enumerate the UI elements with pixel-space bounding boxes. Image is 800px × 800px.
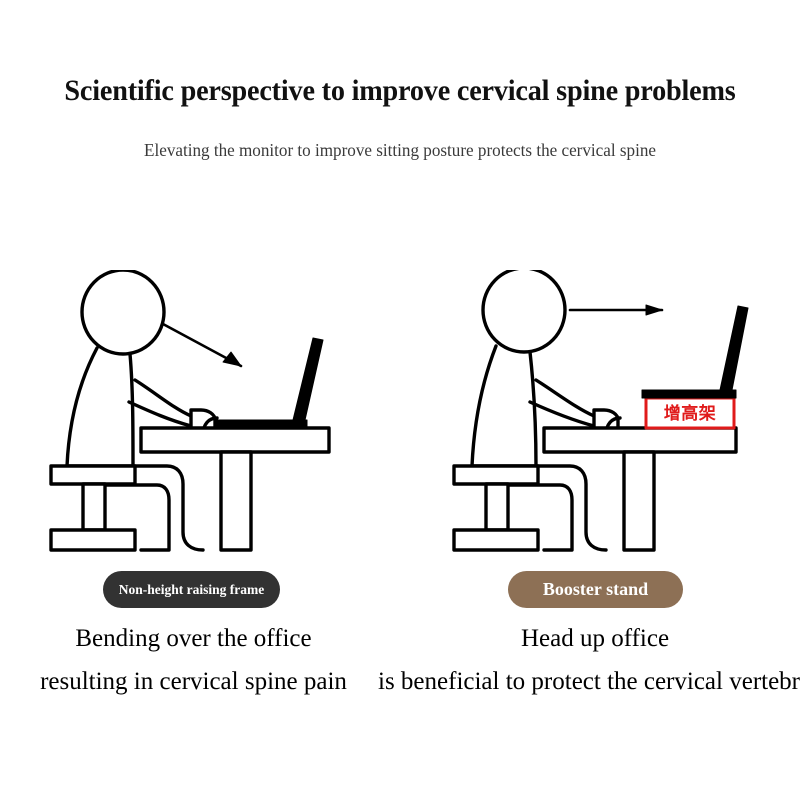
upper-arm-outline <box>536 380 594 416</box>
gaze-arrow-down-icon <box>163 324 241 366</box>
stool-base <box>454 530 538 550</box>
back-outline <box>67 348 97 466</box>
page-subtitle: Elevating the monitor to improve sitting… <box>20 140 780 161</box>
caption-with-riser-line1: Head up office <box>390 625 800 653</box>
status-badge-without-riser: Non-height raising frame <box>103 571 280 608</box>
laptop-base <box>642 390 736 398</box>
seated-person-icon <box>45 270 385 570</box>
head-icon <box>82 270 164 354</box>
comparison-panels: 增高架 <box>0 270 800 570</box>
laptop-screen <box>720 306 748 390</box>
riser-label: 增高架 <box>664 403 717 424</box>
upper-arm-outline <box>135 380 191 416</box>
back-outline <box>472 346 496 466</box>
laptop-screen <box>293 338 323 420</box>
desk-top <box>141 428 329 452</box>
seated-person-icon: 增高架 <box>450 270 790 570</box>
status-badge-with-riser: Booster stand <box>508 571 683 608</box>
stool-seat <box>454 466 538 484</box>
laptop-base <box>215 420 307 428</box>
caption-without-riser-line2: resulting in cervical spine pain <box>0 668 387 696</box>
gaze-arrow-right-icon <box>570 305 662 315</box>
page-title: Scientific perspective to improve cervic… <box>24 74 776 108</box>
stool-seat <box>51 466 135 484</box>
torso-front-outline <box>130 354 133 466</box>
desk-leg <box>221 452 251 550</box>
stool-pedestal <box>83 484 105 530</box>
desk-top <box>544 428 736 452</box>
forearm-outline <box>530 402 594 426</box>
panel-without-riser <box>45 270 385 570</box>
head-icon <box>483 270 565 352</box>
desk-leg <box>624 452 654 550</box>
forearm-outline <box>129 402 191 426</box>
infographic-page: Scientific perspective to improve cervic… <box>0 0 800 800</box>
stool-base <box>51 530 135 550</box>
caption-without-riser-line1: Bending over the office <box>0 625 387 653</box>
torso-front-outline <box>530 352 536 466</box>
monitor-riser-icon: 增高架 <box>646 398 734 428</box>
panel-with-riser: 增高架 <box>450 270 790 570</box>
caption-with-riser-line2: is beneficial to protect the cervical ve… <box>378 668 800 696</box>
stool-pedestal <box>486 484 508 530</box>
